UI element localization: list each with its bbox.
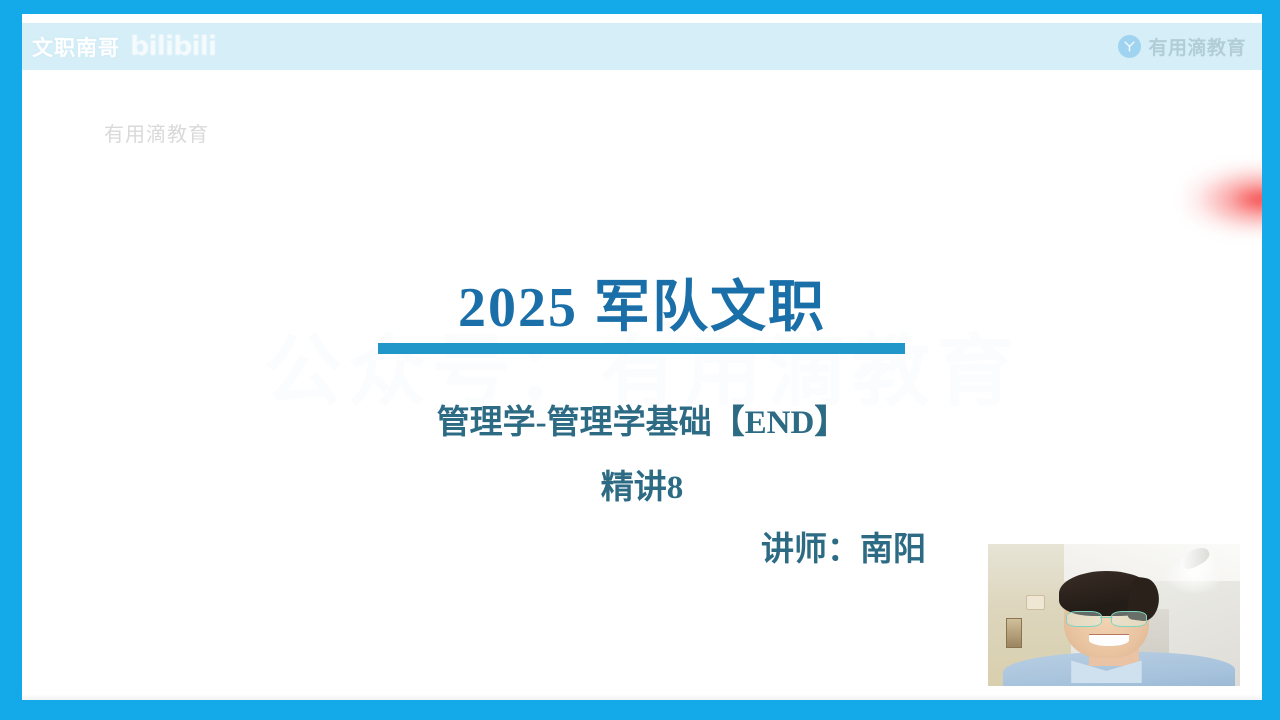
webcam-wall-switch [1026,595,1045,610]
slide-subtitle-lesson: 精讲8 [22,460,1262,508]
video-player-frame: 公众号：有用滴教育 文职南哥 bilibili 有用滴教育 有用滴教育 202 [0,0,1280,720]
slide-main-title: 2025 军队文职 [22,262,1262,343]
presenter-webcam-feed[interactable] [988,544,1240,686]
slide-instructor-label: 讲师：南阳 [761,522,926,570]
webcam-glasses-lens-left [1066,611,1102,627]
title-underline-rule [378,343,905,354]
webcam-wall-picture [1006,618,1022,648]
webcam-person-glasses [1066,611,1147,625]
webcam-glasses-lens-right [1111,611,1147,627]
slide-subtitle-course: 管理学-管理学基础【END】 [22,395,1262,443]
